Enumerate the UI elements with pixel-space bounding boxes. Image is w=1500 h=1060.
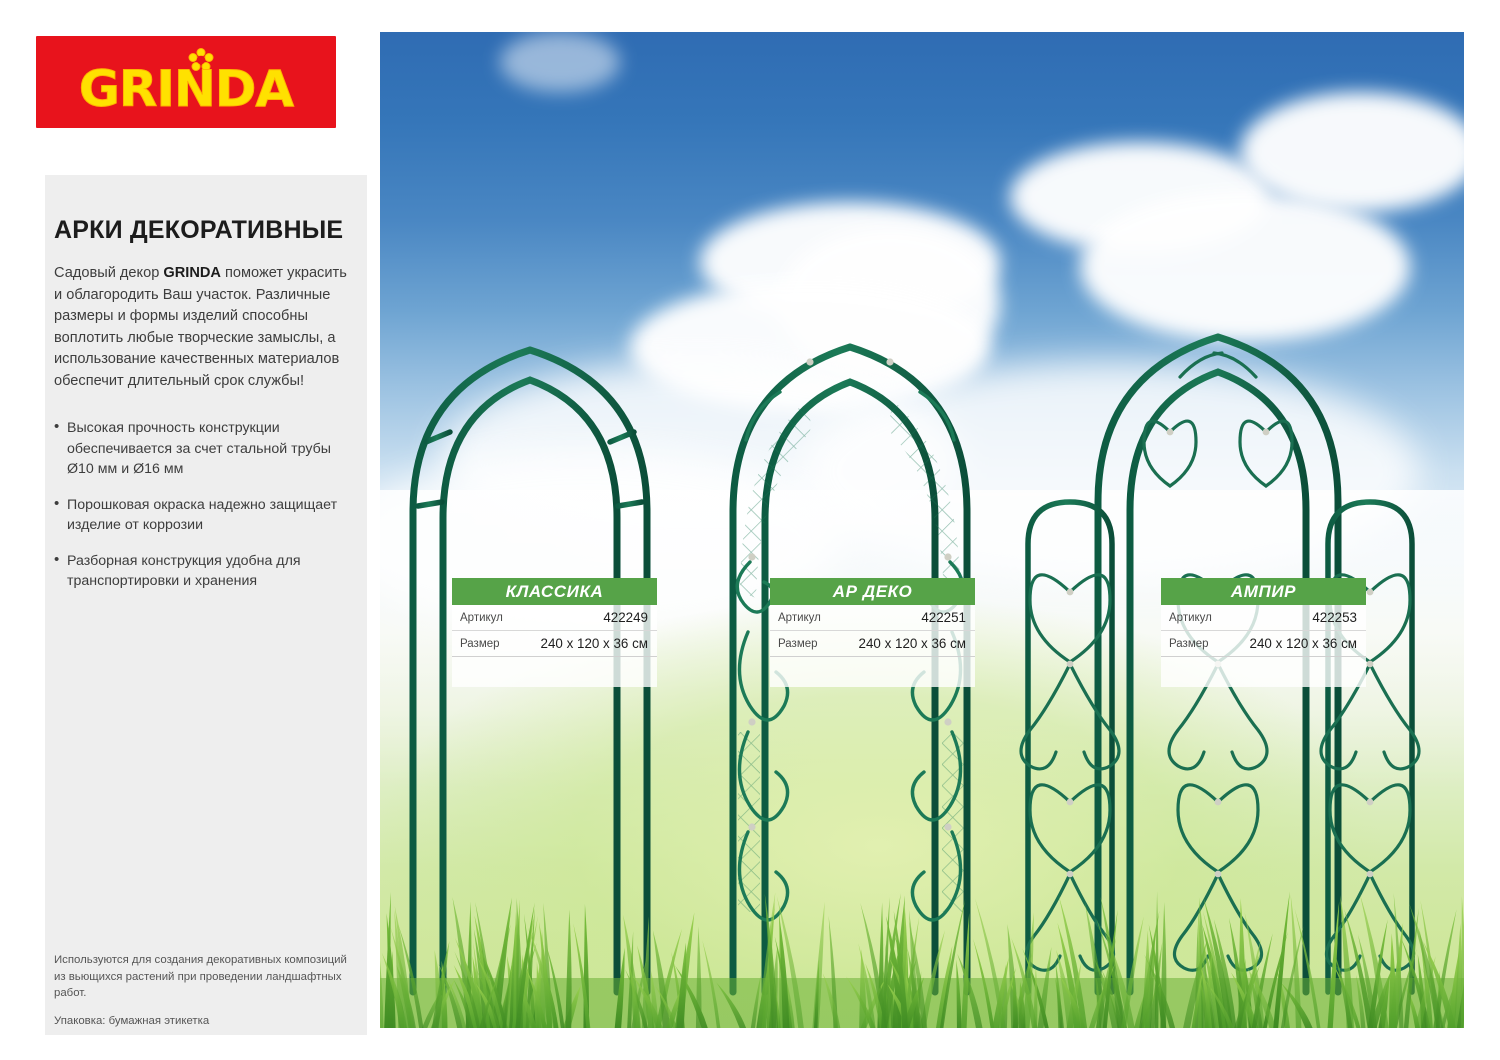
product-name-bar: КЛАССИКА (452, 578, 657, 605)
value-article: 422253 (1225, 605, 1366, 631)
usage-note: Используются для создания декоративных к… (54, 952, 354, 1002)
table-row: Размер240 x 120 x 36 см (770, 631, 975, 657)
label-size: Размер (452, 631, 516, 657)
card-tail (1161, 657, 1366, 687)
packaging-note: Упаковка: бумажная этикетка (54, 1013, 354, 1030)
feature-item: Высокая прочность конструкции обеспечива… (54, 418, 354, 480)
info-panel: АРКИ ДЕКОРАТИВНЫЕ Садовый декор GRINDA п… (45, 175, 367, 1035)
feature-item: Разборная конструкция удобна для транспо… (54, 551, 354, 592)
product-card-ardeco[interactable]: АР ДЕКО Артикул422251 Размер240 x 120 x … (770, 578, 975, 687)
label-article: Артикул (1161, 605, 1225, 631)
product-card-ampir[interactable]: АМПИР Артикул422253 Размер240 x 120 x 36… (1161, 578, 1366, 687)
brand-wordmark: GRINDA (36, 64, 336, 114)
feature-list: Высокая прочность конструкции обеспечива… (54, 418, 354, 592)
table-row: Артикул422251 (770, 605, 975, 631)
product-name-bar: АР ДЕКО (770, 578, 975, 605)
value-size: 240 x 120 x 36 см (516, 631, 657, 657)
product-name: АМПИР (1231, 582, 1296, 602)
lead-brand: GRINDA (163, 265, 221, 281)
value-article: 422249 (516, 605, 657, 631)
table-row: Артикул422249 (452, 605, 657, 631)
label-article: Артикул (770, 605, 834, 631)
product-name: КЛАССИКА (506, 582, 604, 602)
value-size: 240 x 120 x 36 см (834, 631, 975, 657)
label-article: Артикул (452, 605, 516, 631)
value-article: 422251 (834, 605, 975, 631)
lead-after: поможет украсить и облагородить Ваш учас… (54, 265, 347, 389)
table-row: Размер240 x 120 x 36 см (452, 631, 657, 657)
product-card-classica[interactable]: КЛАССИКА Артикул422249 Размер240 x 120 x… (452, 578, 657, 687)
product-spec-table: Артикул422251 Размер240 x 120 x 36 см (770, 605, 975, 657)
footnote-block: Используются для создания декоративных к… (54, 952, 354, 1029)
brand-logo: GRINDA (36, 36, 336, 128)
value-size: 240 x 120 x 36 см (1225, 631, 1366, 657)
grass-foreground (380, 858, 1464, 1028)
product-name-bar: АМПИР (1161, 578, 1366, 605)
card-tail (770, 657, 975, 687)
product-spec-table: Артикул422253 Размер240 x 120 x 36 см (1161, 605, 1366, 657)
page-title: АРКИ ДЕКОРАТИВНЫЕ (54, 215, 354, 245)
lead-paragraph: Садовый декор GRINDA поможет украсить и … (54, 263, 354, 392)
label-size: Размер (1161, 631, 1225, 657)
card-tail (452, 657, 657, 687)
product-spec-table: Артикул422249 Размер240 x 120 x 36 см (452, 605, 657, 657)
product-name: АР ДЕКО (833, 582, 913, 602)
table-row: Артикул422253 (1161, 605, 1366, 631)
product-photo-stage: КЛАССИКА Артикул422249 Размер240 x 120 x… (380, 32, 1464, 1028)
label-size: Размер (770, 631, 834, 657)
table-row: Размер240 x 120 x 36 см (1161, 631, 1366, 657)
feature-item: Порошковая окраска надежно защищает изде… (54, 495, 354, 536)
lead-before: Садовый декор (54, 265, 163, 281)
